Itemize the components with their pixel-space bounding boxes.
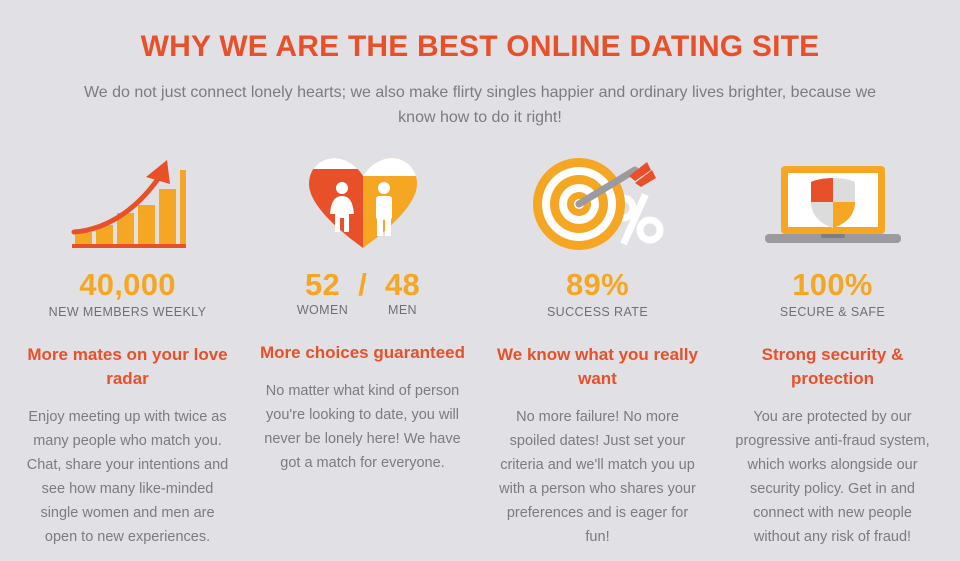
stat-caption: SECURE & SAFE [729, 304, 936, 321]
feature-title: More mates on your love radar [24, 343, 231, 391]
feature-title: Strong security & protection [729, 343, 936, 391]
stat-number: 100% [729, 268, 936, 302]
feature-column-members: 40,000 NEW MEMBERS WEEKLY More mates on … [10, 152, 245, 549]
stat-caption: NEW MEMBERS WEEKLY [24, 304, 231, 321]
page-subtitle: We do not just connect lonely hearts; we… [80, 80, 880, 130]
stat-separator: / [351, 268, 375, 302]
stat-number-split: 52 / 48 [259, 268, 466, 302]
target-arrow-percent-icon [494, 152, 701, 252]
split-heart-gender-icon [259, 152, 466, 252]
feature-body: Enjoy meeting up with twice as many peop… [24, 405, 231, 549]
feature-body: You are protected by our progressive ant… [729, 405, 936, 549]
growth-bar-chart-icon [24, 152, 231, 252]
stat-number: 40,000 [24, 268, 231, 302]
stat-number-men: 48 [375, 268, 431, 302]
stat-number: 89% [494, 268, 701, 302]
feature-column-choices: 52 / 48 WOMEN MEN More choices guarantee… [245, 152, 480, 549]
feature-columns: 40,000 NEW MEMBERS WEEKLY More mates on … [10, 152, 950, 549]
feature-body: No more failure! No more spoiled dates! … [494, 405, 701, 549]
stat-caption: SUCCESS RATE [494, 304, 701, 321]
stat-caption-women: WOMEN [295, 302, 351, 319]
features-section: WHY WE ARE THE BEST ONLINE DATING SITE W… [0, 0, 960, 561]
feature-column-security: 100% SECURE & SAFE Strong security & pro… [715, 152, 950, 549]
feature-title: More choices guaranteed [259, 341, 466, 365]
laptop-shield-security-icon [729, 152, 936, 252]
stat-caption-men: MEN [375, 302, 431, 319]
feature-column-success: 89% SUCCESS RATE We know what you really… [480, 152, 715, 549]
stat-caption-split: WOMEN MEN [259, 302, 466, 319]
stat-number-women: 52 [295, 268, 351, 302]
page-title: WHY WE ARE THE BEST ONLINE DATING SITE [0, 28, 960, 66]
stat-caption-gap [351, 302, 375, 319]
feature-title: We know what you really want [494, 343, 701, 391]
feature-body: No matter what kind of person you're loo… [259, 379, 466, 475]
